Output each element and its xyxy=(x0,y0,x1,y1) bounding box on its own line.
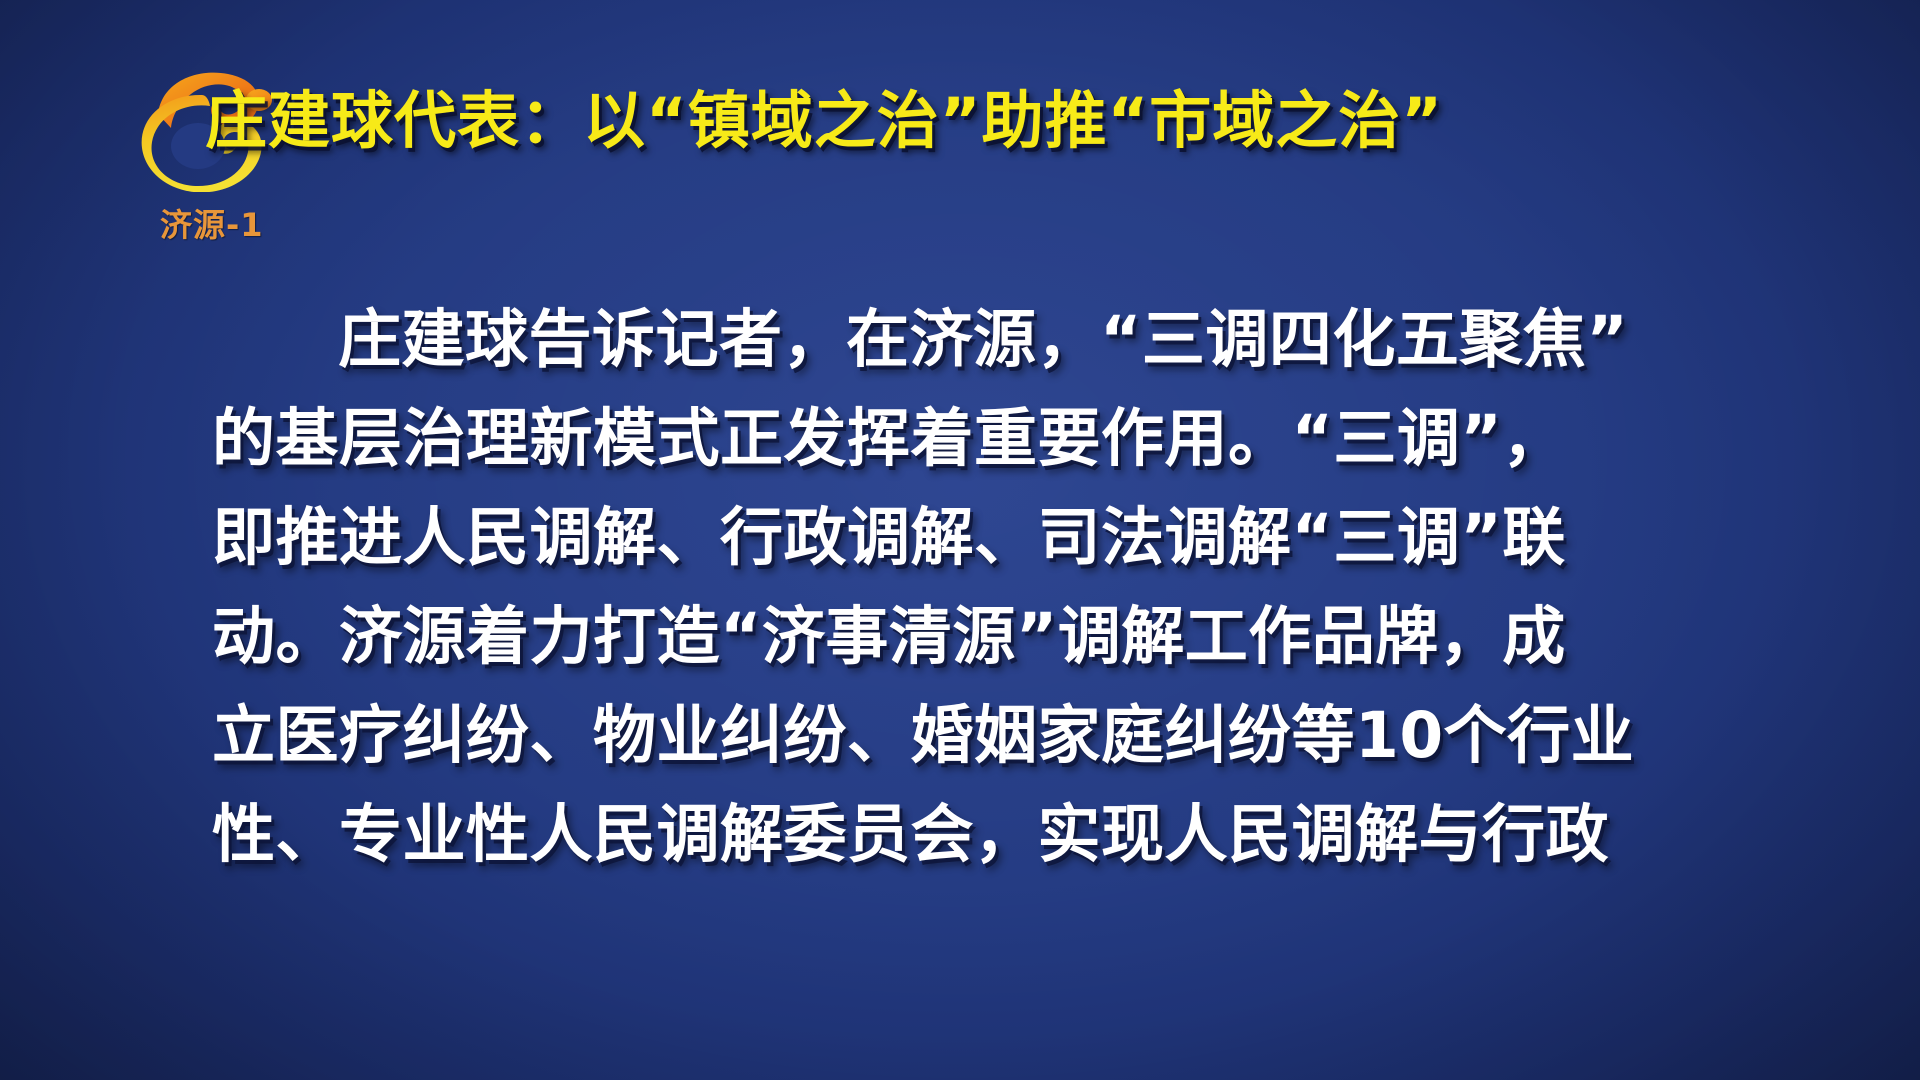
article-line: 的基层治理新模式正发挥着重要作用。“三调”， xyxy=(212,389,1732,488)
article-line: 立医疗纠纷、物业纠纷、婚姻家庭纠纷等10个行业 xyxy=(212,686,1732,785)
broadcast-news-slide: 济源-1 庄建球代表：以“镇域之治”助推“市域之治” 庄建球告诉记者，在济源，“… xyxy=(0,0,1920,1080)
article-line: 即推进人民调解、行政调解、司法调解“三调”联 xyxy=(212,488,1732,587)
article-line: 动。济源着力打造“济事清源”调解工作品牌，成 xyxy=(212,587,1732,686)
article-line: 庄建球告诉记者，在济源，“三调四化五聚焦” xyxy=(212,290,1732,389)
article-body: 庄建球告诉记者，在济源，“三调四化五聚焦” 的基层治理新模式正发挥着重要作用。“… xyxy=(212,290,1732,884)
channel-label: 济源-1 xyxy=(160,200,264,246)
page-title: 庄建球代表：以“镇域之治”助推“市域之治” xyxy=(205,88,1845,154)
article-line: 性、专业性人民调解委员会，实现人民调解与行政 xyxy=(212,785,1732,884)
